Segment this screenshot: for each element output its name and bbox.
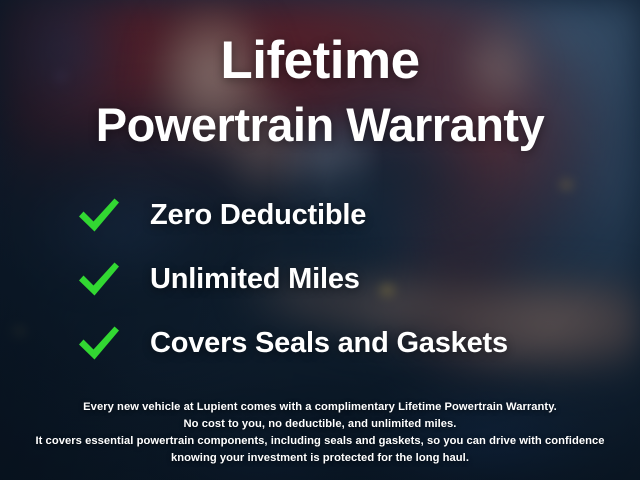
banner-content: Lifetime Powertrain Warranty Zero Deduct… xyxy=(0,0,640,480)
disclaimer-line-2: No cost to you, no deductible, and unlim… xyxy=(0,416,640,433)
disclaimer-line-3: It covers essential powertrain component… xyxy=(0,433,640,467)
check-icon xyxy=(76,195,122,235)
benefits-list: Zero Deductible Unlimited Miles Covers S… xyxy=(0,183,640,375)
headline-secondary: Powertrain Warranty xyxy=(96,101,544,148)
benefit-item-covers-seals-and-gaskets: Covers Seals and Gaskets xyxy=(76,311,508,375)
benefit-item-zero-deductible: Zero Deductible xyxy=(76,183,366,247)
benefit-label: Covers Seals and Gaskets xyxy=(150,327,508,360)
headline-primary: Lifetime xyxy=(220,34,419,87)
benefit-item-unlimited-miles: Unlimited Miles xyxy=(76,247,360,311)
disclaimer-line-1: Every new vehicle at Lupient comes with … xyxy=(0,399,640,416)
lifetime-powertrain-warranty-banner: Lifetime Powertrain Warranty Zero Deduct… xyxy=(0,0,640,480)
check-icon xyxy=(76,323,122,363)
disclaimer-text: Every new vehicle at Lupient comes with … xyxy=(0,399,640,467)
benefit-label: Zero Deductible xyxy=(150,199,366,232)
check-icon xyxy=(76,259,122,299)
benefit-label: Unlimited Miles xyxy=(150,263,360,296)
